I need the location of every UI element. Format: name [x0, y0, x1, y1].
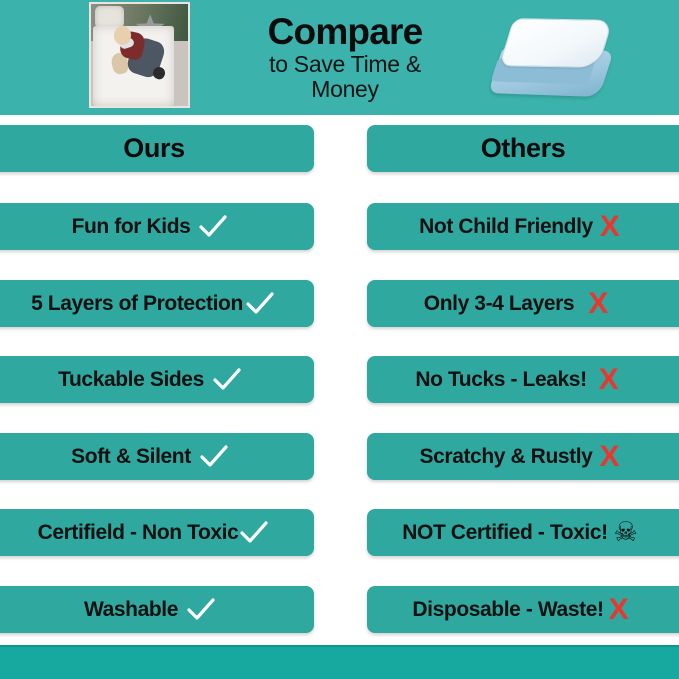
- skull-and-crossbones-icon: ☠: [608, 519, 644, 546]
- check-icon: [243, 291, 277, 317]
- footer-band: [0, 645, 679, 679]
- photo-baby-head: [114, 26, 130, 44]
- ours-feature-label: Certifield - Non Toxic: [38, 521, 239, 545]
- ours-feature-bar: Soft & Silent: [0, 433, 314, 480]
- others-feature-bar: Scratchy & Rustly X: [367, 433, 679, 480]
- product-image: [487, 14, 623, 102]
- page-subtitle: to Save Time & Money: [269, 52, 421, 102]
- others-feature-bar: Not Child Friendly X: [367, 203, 679, 250]
- others-feature-label: Disposable - Waste!: [412, 598, 603, 622]
- ours-feature-bar: Certifield - Non Toxic: [0, 509, 314, 556]
- others-feature-bar: Only 3-4 Layers X: [367, 280, 679, 327]
- others-feature-bar: Disposable - Waste! X: [367, 586, 679, 633]
- x-icon: X: [593, 212, 627, 242]
- others-feature-label: Scratchy & Rustly: [420, 445, 593, 469]
- x-icon: X: [574, 289, 622, 319]
- x-icon: X: [604, 595, 634, 625]
- page-title: Compare: [268, 13, 423, 50]
- header-title-block: Compare to Save Time & Money: [215, 0, 475, 115]
- page-subtitle-line-2: Money: [269, 77, 421, 102]
- comparison-row: Washable Disposable - Waste! X: [0, 586, 679, 633]
- others-feature-bar: No Tucks - Leaks! X: [367, 356, 679, 403]
- product-top-surface: [499, 18, 613, 67]
- ours-feature-label: Tuckable Sides: [58, 368, 204, 392]
- x-icon: X: [592, 442, 626, 472]
- ours-feature-bar: Tuckable Sides: [0, 356, 314, 403]
- photo-pillow: [95, 6, 124, 28]
- others-feature-label: Only 3-4 Layers: [424, 292, 574, 316]
- comparison-row: Certifield - Non Toxic NOT Certified - T…: [0, 509, 679, 556]
- header-banner: Compare to Save Time & Money: [0, 0, 679, 115]
- check-icon: [178, 597, 224, 623]
- ours-feature-bar: 5 Layers of Protection: [0, 280, 314, 327]
- ours-feature-bar: Washable: [0, 586, 314, 633]
- comparison-row: Fun for Kids Not Child Friendly X: [0, 203, 679, 250]
- column-header-others-label: Others: [481, 133, 566, 164]
- column-header-others: Others: [367, 125, 679, 172]
- comparison-row: 5 Layers of Protection Only 3-4 Layers X: [0, 280, 679, 327]
- comparison-row: Tuckable Sides No Tucks - Leaks! X: [0, 356, 679, 403]
- ours-feature-label: Fun for Kids: [72, 215, 191, 239]
- comparison-grid: Ours Others Fun for Kids Not Child Frien…: [0, 115, 679, 637]
- ours-feature-label: Washable: [84, 598, 178, 622]
- ours-feature-bar: Fun for Kids: [0, 203, 314, 250]
- column-header-row: Ours Others: [0, 125, 679, 172]
- check-icon: [190, 214, 236, 240]
- check-icon: [191, 444, 237, 470]
- ours-feature-label: Soft & Silent: [71, 445, 191, 469]
- baby-photo: [89, 2, 190, 108]
- others-feature-label: NOT Certified - Toxic!: [402, 521, 608, 545]
- comparison-infographic: Compare to Save Time & Money Ours Others: [0, 0, 679, 679]
- check-icon: [204, 367, 250, 393]
- others-feature-label: Not Child Friendly: [419, 215, 593, 239]
- comparison-row: Soft & Silent Scratchy & Rustly X: [0, 433, 679, 480]
- column-header-ours-label: Ours: [123, 133, 184, 164]
- page-subtitle-line-1: to Save Time &: [269, 52, 421, 77]
- others-feature-bar: NOT Certified - Toxic! ☠: [367, 509, 679, 556]
- check-icon: [238, 520, 270, 546]
- column-header-ours: Ours: [0, 125, 314, 172]
- x-icon: X: [587, 365, 631, 395]
- others-feature-label: No Tucks - Leaks!: [415, 368, 586, 392]
- ours-feature-label: 5 Layers of Protection: [31, 292, 243, 316]
